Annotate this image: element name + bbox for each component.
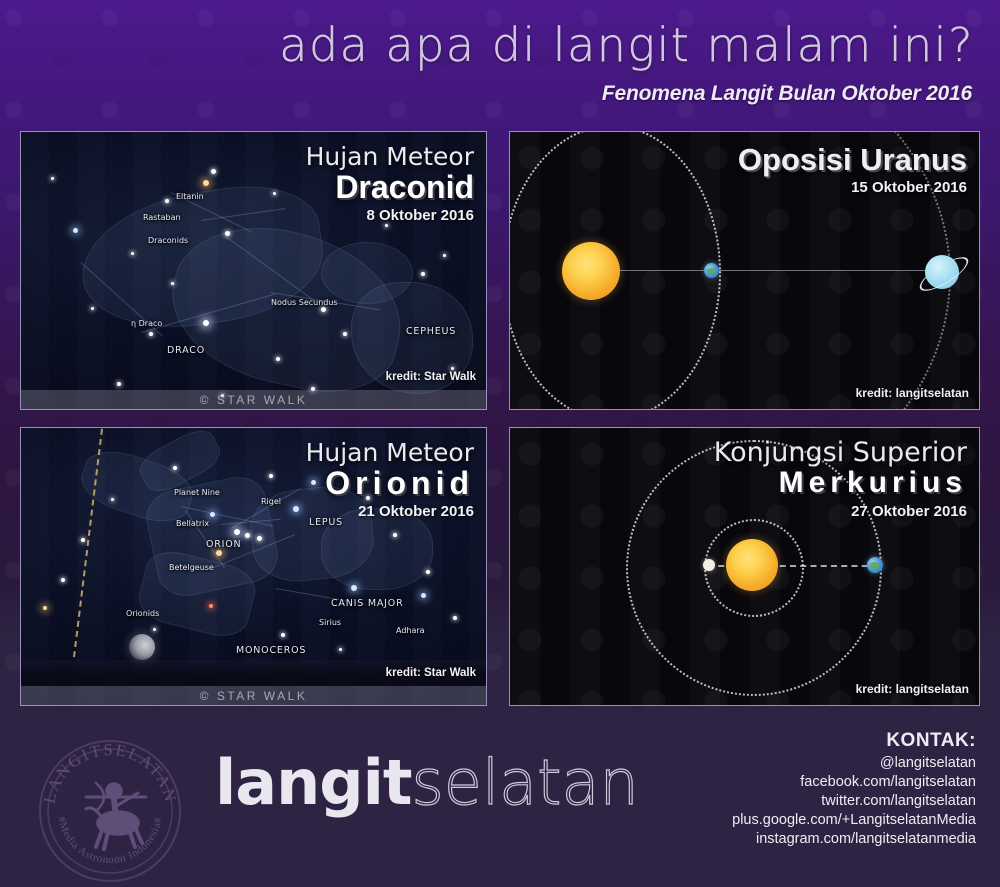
earth-body	[867, 557, 883, 573]
star-label: Orionids	[126, 609, 159, 618]
earth-body	[704, 263, 719, 278]
wordmark-langit: langit	[215, 746, 412, 819]
opposition-alignment-line	[603, 270, 948, 271]
star	[421, 272, 425, 276]
star-label: Adhara	[396, 626, 425, 635]
star	[281, 633, 285, 637]
star	[61, 578, 65, 582]
contact-line[interactable]: @langitselatan	[732, 754, 976, 773]
contact-links[interactable]: @langitselatanfacebook.com/langitselatan…	[732, 754, 976, 849]
star-eltanin	[203, 180, 209, 186]
star-label: Draconids	[148, 236, 188, 245]
contact-line[interactable]: facebook.com/langitselatan	[732, 773, 976, 792]
star-label: MONOCEROS	[236, 645, 306, 656]
star-sirius	[351, 585, 357, 591]
panel-date: 21 Oktober 2016	[306, 503, 474, 520]
star	[131, 252, 134, 255]
star-belt	[234, 529, 240, 535]
star-betelgeuse	[216, 550, 222, 556]
star-nodus-secundus	[321, 307, 326, 312]
star	[426, 570, 430, 574]
star	[276, 357, 280, 361]
star	[117, 382, 121, 386]
panel-konjungsi-merkurius[interactable]: Konjungsi Superior Merkurius 27 Oktober …	[509, 427, 980, 706]
star	[153, 628, 156, 631]
wordmark-selatan: selatan	[412, 746, 639, 819]
star	[43, 606, 47, 610]
star-label: Betelgeuse	[169, 563, 214, 572]
panel-credit: kredit: Star Walk	[386, 667, 476, 679]
panel-credit: kredit: langitselatan	[856, 386, 969, 400]
panel-date: 27 Oktober 2016	[714, 503, 967, 520]
panel-credit: kredit: langitselatan	[856, 682, 969, 696]
star-label: η Draco	[131, 319, 162, 328]
star	[209, 604, 213, 608]
panel-title-orionid: Hujan Meteor Orionid 21 Oktober 2016	[306, 440, 474, 520]
star	[81, 538, 85, 542]
panel-name: Draconid	[306, 170, 474, 204]
contact-line[interactable]: instagram.com/langitselatanmedia	[732, 830, 976, 849]
star-label: ORION	[206, 539, 241, 550]
panel-draconid[interactable]: EltaninRastabanDraconidsNodus Secundusη …	[20, 131, 487, 410]
star	[91, 307, 94, 310]
star	[451, 367, 454, 370]
panel-credit: kredit: Star Walk	[386, 371, 476, 383]
star	[149, 332, 153, 336]
panel-kicker: Oposisi Uranus	[738, 144, 967, 176]
moon-body	[129, 634, 155, 660]
star	[339, 648, 342, 651]
contact-block: KONTAK: @langitselatanfacebook.com/langi…	[732, 730, 976, 849]
star	[385, 224, 388, 227]
panel-orionid[interactable]: Planet NineRigelBellatrixORIONLEPUSBetel…	[20, 427, 487, 706]
contact-line[interactable]: plus.google.com/+LangitselatanMedia	[732, 811, 976, 830]
panel-title-merkurius: Konjungsi Superior Merkurius 27 Oktober …	[714, 440, 967, 520]
panel-oposisi-uranus[interactable]: Oposisi Uranus 15 Oktober 2016 kredit: l…	[509, 131, 980, 410]
header: ada apa di langit malam ini? Fenomena La…	[0, 0, 1000, 126]
star	[343, 332, 347, 336]
star	[111, 498, 114, 501]
page-subtitle: Fenomena Langit Bulan Oktober 2016	[602, 82, 972, 106]
star	[225, 231, 230, 236]
star	[273, 192, 276, 195]
star	[269, 474, 273, 478]
langitselatan-logo[interactable]: LANGITSELATAN #Media Astronomi Indonesia…	[34, 735, 186, 887]
star	[173, 466, 177, 470]
star-label: Bellatrix	[176, 519, 209, 528]
star-label: Sirius	[319, 618, 341, 627]
panel-title-draconid: Hujan Meteor Draconid 8 Oktober 2016	[306, 144, 474, 224]
panel-name: Merkurius	[714, 466, 967, 500]
star	[443, 254, 446, 257]
sun-body	[726, 539, 778, 591]
star-label: Eltanin	[176, 192, 204, 201]
star-rigel	[293, 506, 299, 512]
mercury-body	[703, 559, 715, 571]
star	[453, 616, 457, 620]
star-rastaban	[165, 199, 169, 203]
star	[393, 533, 397, 537]
starwalk-watermark: © STAR WALK	[21, 390, 486, 409]
contact-heading: KONTAK:	[732, 730, 976, 752]
star-label: CANIS MAJOR	[331, 598, 403, 609]
panel-title-uranus: Oposisi Uranus 15 Oktober 2016	[738, 144, 967, 196]
uranus-body	[919, 249, 965, 295]
star-belt	[257, 536, 262, 541]
panel-date: 8 Oktober 2016	[306, 207, 474, 224]
panel-name: Orionid	[306, 466, 474, 500]
star-label: Nodus Secundus	[271, 298, 338, 307]
star	[203, 320, 209, 326]
poster-root: ada apa di langit malam ini? Fenomena La…	[0, 0, 1000, 887]
star	[211, 169, 216, 174]
star-bellatrix	[210, 512, 215, 517]
star	[51, 177, 54, 180]
page-title: ada apa di langit malam ini?	[279, 22, 974, 68]
contact-line[interactable]: twitter.com/langitselatan	[732, 792, 976, 811]
panel-kicker: Hujan Meteor	[306, 144, 474, 170]
starwalk-watermark: © STAR WALK	[21, 686, 486, 705]
panel-date: 15 Oktober 2016	[738, 179, 967, 196]
star	[73, 228, 78, 233]
sun-body	[562, 242, 620, 300]
star-label: Rastaban	[143, 213, 181, 222]
brand-wordmark[interactable]: langitselatan	[215, 752, 639, 814]
panel-kicker: Hujan Meteor	[306, 440, 474, 466]
star-label: Rigel	[261, 497, 281, 506]
star-label: CEPHEUS	[406, 326, 456, 337]
star-label: Planet Nine	[174, 488, 220, 497]
star-label: DRACO	[167, 345, 205, 356]
panel-kicker: Konjungsi Superior	[714, 440, 967, 466]
star	[171, 282, 174, 285]
star-belt	[245, 533, 250, 538]
star-adhara	[421, 593, 426, 598]
